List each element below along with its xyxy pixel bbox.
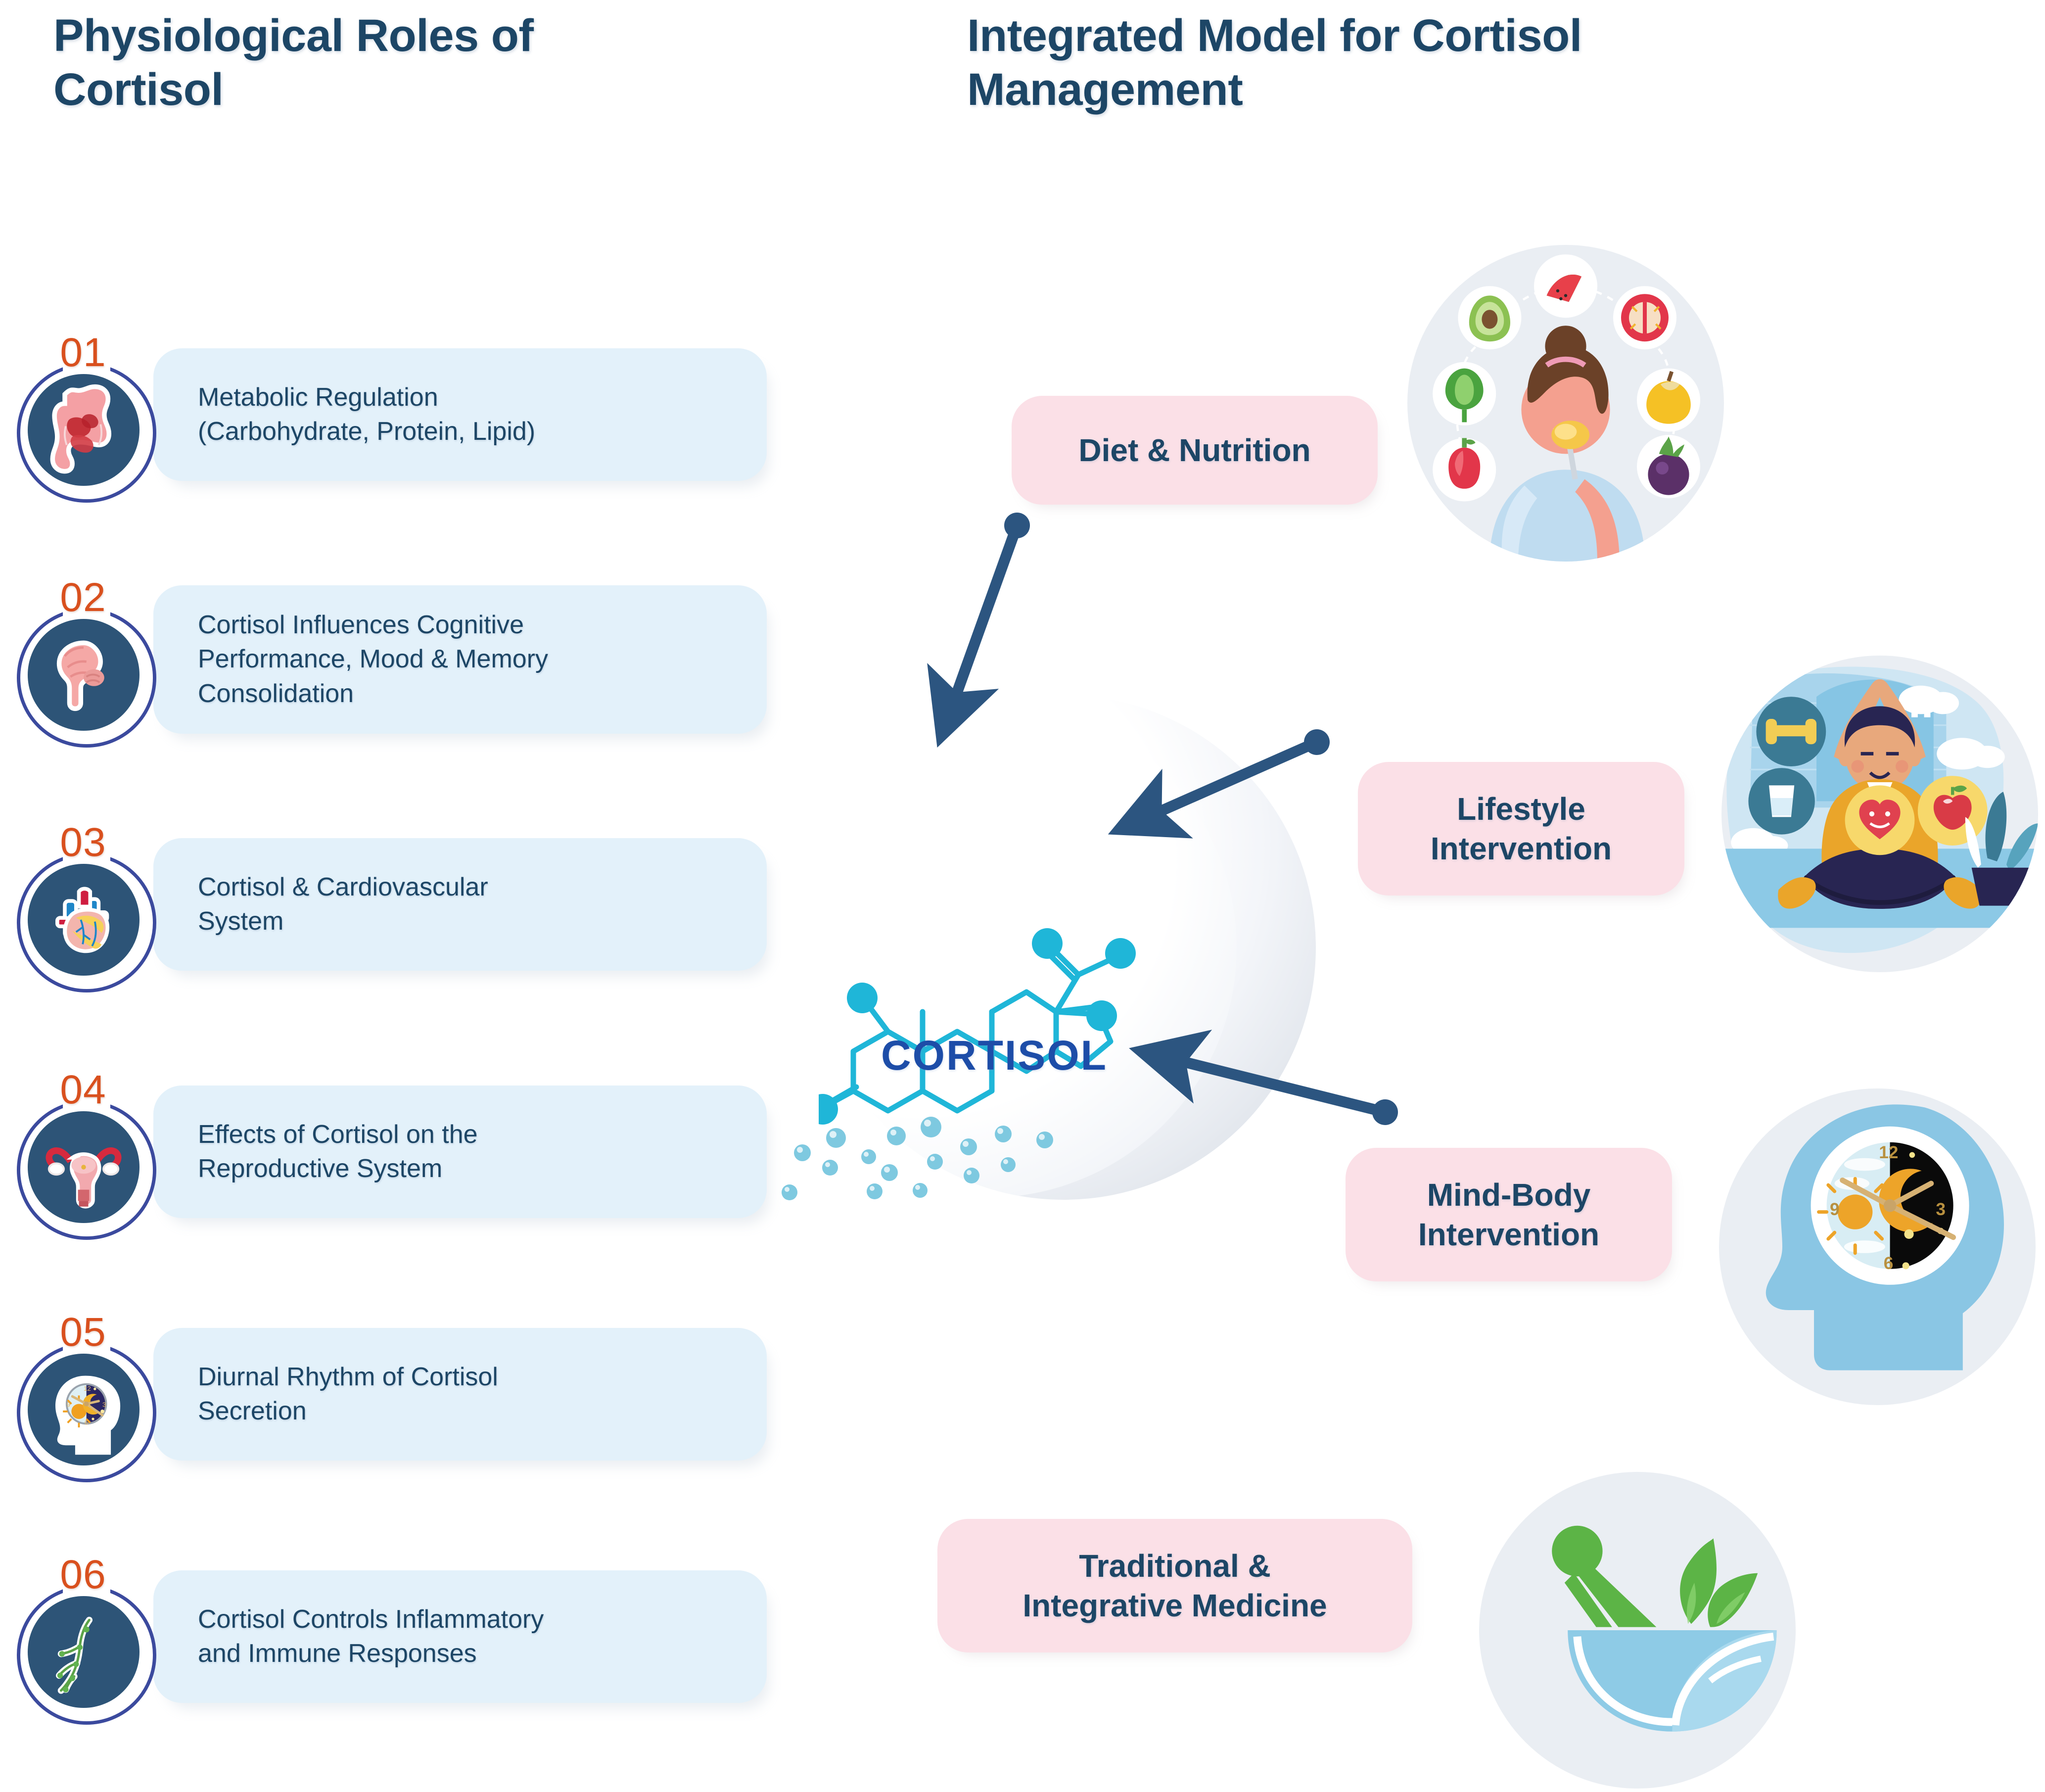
role-number-03: 03 bbox=[9, 819, 157, 866]
svg-text:12: 12 bbox=[1879, 1143, 1898, 1162]
role-item-02[interactable]: Cortisol Influences Cognitive Performanc… bbox=[0, 576, 791, 745]
role-item-01[interactable]: Metabolic Regulation (Carbohydrate, Prot… bbox=[0, 331, 791, 500]
role-badge-06: 06 bbox=[9, 1554, 157, 1722]
man-yoga-meditation-illustration bbox=[1721, 656, 2038, 972]
intestine-icon bbox=[28, 374, 139, 486]
arrow-dot-diet bbox=[1004, 513, 1030, 538]
mgmt-pill-lifestyle-intervention[interactable]: Lifestyle Intervention bbox=[1358, 762, 1684, 896]
svg-text:6: 6 bbox=[1884, 1254, 1894, 1273]
role-label-02: Cortisol Influences Cognitive Performanc… bbox=[153, 608, 548, 710]
lymph-node-icon bbox=[28, 1596, 139, 1708]
role-number-02: 02 bbox=[9, 574, 157, 621]
role-label-01: Metabolic Regulation (Carbohydrate, Prot… bbox=[153, 380, 535, 449]
role-number-06: 06 bbox=[9, 1552, 157, 1598]
role-badge-05: 05 bbox=[9, 1311, 157, 1479]
role-pill-05: Diurnal Rhythm of Cortisol Secretion bbox=[153, 1328, 767, 1461]
infographic-canvas: Physiological Roles of Cortisol Integrat… bbox=[0, 0, 2045, 1792]
role-item-06[interactable]: Cortisol Controls Inflammatory and Immun… bbox=[0, 1554, 791, 1722]
role-label-06: Cortisol Controls Inflammatory and Immun… bbox=[153, 1603, 544, 1671]
role-label-03: Cortisol & Cardiovascular System bbox=[153, 870, 488, 939]
woman-eating-fruits-illustration bbox=[1407, 245, 1724, 562]
role-pill-01: Metabolic Regulation (Carbohydrate, Prot… bbox=[153, 348, 767, 481]
mortar-pestle-herbs-illustration bbox=[1479, 1472, 1796, 1789]
svg-text:9: 9 bbox=[67, 1401, 70, 1408]
role-item-04[interactable]: Effects of Cortisol on the Reproductive … bbox=[0, 1069, 791, 1237]
svg-text:9: 9 bbox=[1830, 1200, 1840, 1219]
role-number-01: 01 bbox=[9, 330, 157, 376]
heart-anatomy-icon bbox=[28, 864, 139, 976]
role-item-03[interactable]: Cortisol & Cardiovascular System 03 bbox=[0, 821, 791, 990]
svg-text:3: 3 bbox=[102, 1401, 106, 1408]
svg-text:3: 3 bbox=[1936, 1200, 1946, 1219]
role-item-05[interactable]: Diurnal Rhythm of Cortisol Secretion 05 bbox=[0, 1311, 791, 1479]
role-pill-04: Effects of Cortisol on the Reproductive … bbox=[153, 1085, 767, 1218]
head-clock-icon: 123 69 bbox=[28, 1354, 139, 1465]
role-label-05: Diurnal Rhythm of Cortisol Secretion bbox=[153, 1360, 498, 1428]
role-number-05: 05 bbox=[9, 1309, 157, 1356]
arrow-dot-lifestyle bbox=[1304, 729, 1330, 755]
mgmt-pill-diet-nutrition[interactable]: Diet & Nutrition bbox=[1012, 396, 1378, 505]
page-title-right: Integrated Model for Cortisol Management bbox=[967, 9, 1739, 116]
svg-text:12: 12 bbox=[84, 1385, 91, 1392]
role-pill-02: Cortisol Influences Cognitive Performanc… bbox=[153, 585, 767, 734]
role-number-04: 04 bbox=[9, 1067, 157, 1113]
role-badge-04: 04 bbox=[9, 1069, 157, 1237]
mgmt-pill-traditional-integrative-medicine[interactable]: Traditional & Integrative Medicine bbox=[937, 1519, 1412, 1652]
role-badge-02: 02 bbox=[9, 576, 157, 745]
role-pill-03: Cortisol & Cardiovascular System bbox=[153, 838, 767, 971]
role-label-04: Effects of Cortisol on the Reproductive … bbox=[153, 1118, 478, 1186]
cortisol-particles bbox=[772, 1088, 1118, 1222]
uterus-icon bbox=[28, 1111, 139, 1223]
mgmt-pill-mind-body-intervention[interactable]: Mind-Body Intervention bbox=[1346, 1148, 1672, 1281]
svg-text:6: 6 bbox=[85, 1418, 88, 1426]
brain-icon bbox=[28, 619, 139, 731]
arrow-dot-mindbody bbox=[1372, 1099, 1398, 1125]
role-badge-03: 03 bbox=[9, 821, 157, 990]
role-pill-06: Cortisol Controls Inflammatory and Immun… bbox=[153, 1570, 767, 1703]
cortisol-label: CORTISOL bbox=[801, 1032, 1187, 1080]
head-day-night-clock-illustration: 123 69 bbox=[1719, 1088, 2036, 1405]
physiological-roles-list: Metabolic Regulation (Carbohydrate, Prot… bbox=[0, 0, 801, 1792]
role-badge-01: 01 bbox=[9, 331, 157, 500]
